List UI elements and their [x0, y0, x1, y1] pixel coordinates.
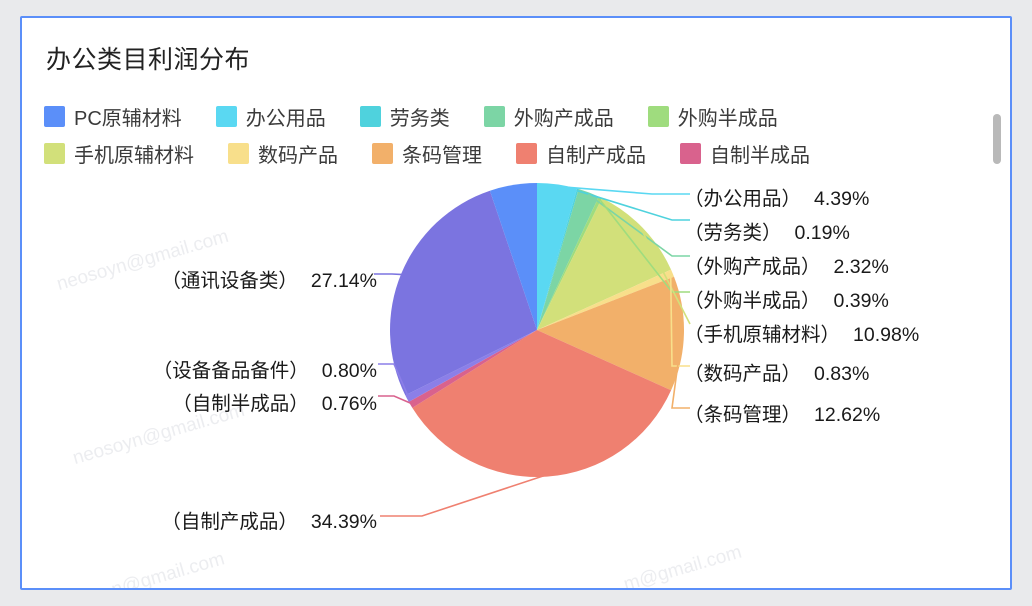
pie-leader-line: [374, 274, 403, 275]
legend-item-label: PC原辅材料: [74, 102, 182, 131]
legend-row-2: 手机原辅材料 数码产品 条码管理 自制产成品 自制半成品: [44, 135, 974, 172]
legend-item-label: 劳务类: [390, 102, 450, 131]
pie-label-labor: （劳务类）0.19%: [684, 216, 850, 245]
page-title: 办公类目利润分布: [46, 40, 250, 76]
pie-label-purchased-semi: （外购半成品）0.39%: [684, 284, 889, 313]
pie-label-equipment-spare-parts: （设备备品备件）0.80%: [22, 354, 377, 383]
legend-swatch-icon: [44, 143, 65, 164]
legend-swatch-icon: [228, 143, 249, 164]
pie-slice-group: [390, 183, 684, 477]
pie-label-purchased-finished: （外购产成品）2.32%: [684, 250, 889, 279]
pie-chart-plot: （办公用品）4.39% （劳务类）0.19% （外购产成品）2.32% （外购半…: [22, 168, 1010, 588]
pie-label-digital-products: （数码产品）0.83%: [684, 357, 869, 386]
pie-label-barcode-management: （条码管理）12.62%: [684, 398, 880, 427]
legend-item-purchased-finished[interactable]: 外购产成品: [484, 102, 614, 131]
legend-swatch-icon: [372, 143, 393, 164]
legend-item-barcode-management[interactable]: 条码管理: [372, 139, 482, 168]
legend-item-label: 条码管理: [402, 139, 482, 168]
chart-card: 办公类目利润分布 PC原辅材料 办公用品 劳务类 外购产成品: [20, 16, 1012, 590]
legend-swatch-icon: [516, 143, 537, 164]
pie-label-office-supplies: （办公用品）4.39%: [684, 182, 869, 211]
legend-item-label: 数码产品: [258, 139, 338, 168]
legend-item-phone-raw-material[interactable]: 手机原辅材料: [44, 139, 194, 168]
legend-item-label: 自制半成品: [710, 139, 810, 168]
legend-item-label: 外购半成品: [678, 102, 778, 131]
legend-swatch-icon: [44, 106, 65, 127]
legend-item-purchased-semi[interactable]: 外购半成品: [648, 102, 778, 131]
legend-item-self-made-semi[interactable]: 自制半成品: [680, 139, 810, 168]
vertical-scrollbar-thumb[interactable]: [993, 114, 1001, 164]
legend-item-labor[interactable]: 劳务类: [360, 102, 450, 131]
pie-leader-line: [380, 475, 547, 516]
legend-item-office-supplies[interactable]: 办公用品: [216, 102, 326, 131]
pie-label-communication-equipment: （通讯设备类）27.14%: [22, 264, 377, 293]
legend-item-self-made-finished[interactable]: 自制产成品: [516, 139, 646, 168]
pie-label-self-made-semi: （自制半成品）0.76%: [22, 387, 377, 416]
chart-legend: PC原辅材料 办公用品 劳务类 外购产成品 外购半成品: [44, 98, 974, 172]
legend-swatch-icon: [680, 143, 701, 164]
pie-label-phone-raw-material: （手机原辅材料）10.98%: [684, 318, 919, 347]
legend-item-label: 手机原辅材料: [74, 139, 194, 168]
chart-page: 办公类目利润分布 PC原辅材料 办公用品 劳务类 外购产成品: [0, 0, 1032, 606]
legend-item-label: 外购产成品: [514, 102, 614, 131]
legend-swatch-icon: [484, 106, 505, 127]
legend-item-label: 自制产成品: [546, 139, 646, 168]
vertical-scrollbar-track[interactable]: [997, 20, 1006, 590]
legend-item-digital-products[interactable]: 数码产品: [228, 139, 338, 168]
legend-swatch-icon: [216, 106, 237, 127]
legend-item-pc-raw-material[interactable]: PC原辅材料: [44, 102, 182, 131]
legend-swatch-icon: [360, 106, 381, 127]
legend-row-1: PC原辅材料 办公用品 劳务类 外购产成品 外购半成品: [44, 98, 974, 135]
legend-item-label: 办公用品: [246, 102, 326, 131]
pie-label-self-made-finished: （自制产成品）34.39%: [22, 505, 377, 534]
legend-swatch-icon: [648, 106, 669, 127]
